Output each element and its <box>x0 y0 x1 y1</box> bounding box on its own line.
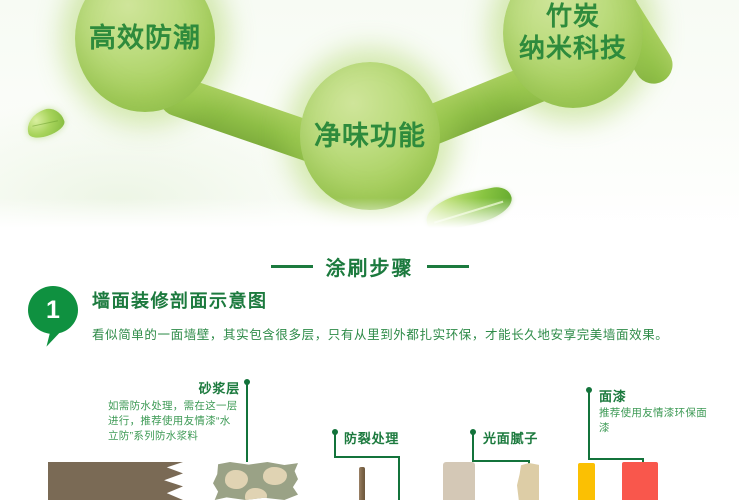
wall-layer-base <box>48 462 183 500</box>
section-title-text: 涂刷步骤 <box>326 252 414 281</box>
wall-layer-putty-primary <box>443 462 475 500</box>
aggregate-speck <box>225 470 248 489</box>
feature-bubble-odor-removal: 净味功能 <box>300 62 440 210</box>
callout-title: 光面腻子 <box>483 428 538 447</box>
wall-layer-crack-prevention <box>359 467 365 500</box>
callout-body: 如需防水处理，需在这一层进行，推荐使用友情漆“水立防”系列防水浆料 <box>108 399 240 444</box>
callout-body: 推荐使用友情漆环保面漆 <box>599 406 709 436</box>
feature-bubble-label: 高效防潮 <box>89 22 201 55</box>
connector-elbow <box>334 456 400 458</box>
product-detail-page: 高效防潮 净味功能 竹炭 纳米科技 涂刷步骤 1 墙面装修剖面示意图 看似简单的… <box>0 0 739 500</box>
callout-smooth-putty: 光面腻子 <box>483 428 538 447</box>
hero-bottom-fade <box>0 198 739 238</box>
feature-bubbles-hero: 高效防潮 净味功能 竹炭 纳米科技 <box>0 0 739 238</box>
step-number-badge: 1 <box>28 286 82 338</box>
feature-bubble-label: 净味功能 <box>314 120 426 153</box>
connector-elbow <box>588 458 644 460</box>
divider-rule-right <box>427 265 469 268</box>
callout-topcoat: 面漆 推荐使用友情漆环保面漆 <box>599 386 709 436</box>
connector-stem <box>334 432 336 456</box>
step-description: 看似简单的一面墙壁，其实包含很多层，只有从里到外都扎实环保，才能长久地安享完美墙… <box>92 324 668 343</box>
callout-title: 面漆 <box>599 386 709 405</box>
callout-mortar-layer: 砂浆层 如需防水处理，需在这一层进行，推荐使用友情漆“水立防”系列防水浆料 <box>108 378 240 444</box>
wall-layer-primer <box>578 463 595 500</box>
wall-layer-topcoat <box>622 462 658 500</box>
connector-stem <box>472 432 474 462</box>
feature-bubble-label-line2: 纳米科技 <box>519 33 627 65</box>
connector-stem <box>588 390 590 460</box>
feature-bubble-label-line1: 竹炭 <box>519 1 627 33</box>
step-number-value: 1 <box>28 286 78 334</box>
callout-title: 防裂处理 <box>344 428 399 447</box>
callout-title: 砂浆层 <box>108 378 240 397</box>
step-heading: 墙面装修剖面示意图 <box>92 287 268 313</box>
callout-crack-prevention: 防裂处理 <box>344 428 399 447</box>
connector-stem <box>246 382 248 462</box>
leaf-icon <box>23 105 67 141</box>
connector-elbow <box>472 460 530 462</box>
section-title: 涂刷步骤 <box>0 252 739 281</box>
connector-drop <box>398 456 400 500</box>
divider-rule-left <box>271 265 313 268</box>
aggregate-speck <box>263 467 287 485</box>
wall-layer-mortar <box>213 462 298 500</box>
